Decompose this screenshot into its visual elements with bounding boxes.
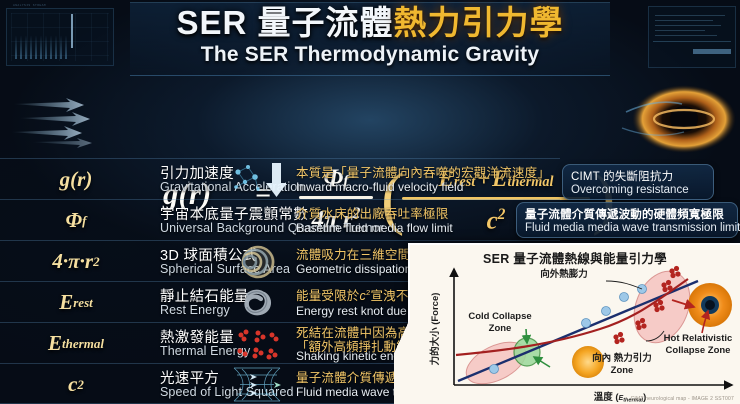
- callout-bandwidth-limit[interactable]: 量子流體介質傳遞波動的硬體頻寬極限 Fluid media media wave…: [516, 202, 738, 238]
- row-symbol: Φf: [0, 200, 152, 241]
- page-title-zh: SER 量子流體熱力引力學: [0, 3, 740, 43]
- cold-leader: [526, 329, 527, 343]
- row-symbol: Ethermal: [0, 323, 152, 364]
- title-zh-main: SER 量子流體: [176, 4, 393, 41]
- hot-star-singularity: [705, 300, 715, 310]
- annotation-hot-collapse-1: Hot Relativistic: [664, 333, 733, 344]
- infographic-canvas: ANALYSIS STREAM SER 量子流體熱力引力學 The SER Th…: [0, 0, 740, 404]
- header: SER 量子流體熱力引力學 The SER Thermodynamic Grav…: [0, 0, 740, 78]
- row-desc-en: Inward macro-fluid velocity field: [296, 180, 463, 194]
- callout-en: Overcoming resistance: [571, 184, 705, 196]
- annotation-cold-collapse-1: Cold Collapse: [468, 311, 531, 322]
- title-zh-accent: 熱力引力學: [394, 4, 564, 41]
- page-title-en: The SER Thermodynamic Gravity: [0, 43, 740, 67]
- annotation-inward-gravity-2: Zone: [611, 365, 634, 376]
- outward-leader: [606, 281, 642, 289]
- formula-band: g(r) = Φf 4π r2 ( Erest + Ethermal c2 ): [0, 80, 740, 158]
- callout-overcoming-resistance[interactable]: CIMT 的失斷阻抗力 Overcoming resistance: [562, 164, 714, 200]
- table-row[interactable]: g(r) 引力加速度 Gravitational Acceleration 本質…: [0, 158, 560, 199]
- annotation-inward-gravity-1: 向內 熱力引力: [592, 352, 652, 364]
- chart-footer: CIMT neurological map - IMAGE 2 SST007: [631, 396, 734, 402]
- row-symbol: g(r): [0, 159, 152, 200]
- row-symbol: Erest: [0, 282, 152, 323]
- chart-ylabel: 力的大小 (Force): [429, 293, 441, 366]
- annotation-outward-thermal: 向外熱膨力: [540, 268, 588, 280]
- knot-torus-icon: [228, 283, 286, 322]
- particle-cluster-arrow-down-icon: [228, 160, 286, 199]
- callout-zh: 量子流體介質傳遞波動的硬體頻寬極限: [525, 206, 729, 222]
- callout-zh: CIMT 的失斷阻抗力: [571, 168, 705, 184]
- inflow-arrows-icon: [10, 92, 130, 148]
- row-term-en: Rest Energy: [160, 303, 230, 317]
- callout-en: Fluid media media wave transmission limi…: [525, 222, 729, 234]
- row-symbol: 4·π·r2: [0, 241, 152, 282]
- row-symbol: c2: [0, 364, 152, 404]
- chart-panel: SER 量子流體熱線與能量引力學: [408, 243, 740, 404]
- nested-spheres-icon: [228, 242, 286, 281]
- row-desc-zh: 本質是「量子流體向內吞噬的宏觀洋流速度」: [296, 162, 550, 181]
- annotation-cold-collapse-2: Zone: [489, 323, 512, 334]
- row-desc-zh: 介質水床的出廠吞吐率極限: [296, 203, 448, 222]
- chart-plot: 向外熱膨力 Cold Collapse Zone 向內 熱力引力 Zone Ho…: [410, 245, 740, 404]
- row-desc-en: Baseline fluid media flow limit: [296, 221, 453, 235]
- table-row[interactable]: Φf 宇宙本底量子震顫常數 Universal Background Quant…: [0, 199, 560, 240]
- annotation-hot-collapse-2: Collapse Zone: [666, 345, 731, 356]
- red-molecule-cluster-icon: [228, 324, 286, 363]
- spacetime-grid-flow-icon: [228, 365, 286, 404]
- black-hole-vortex-icon: [606, 82, 736, 156]
